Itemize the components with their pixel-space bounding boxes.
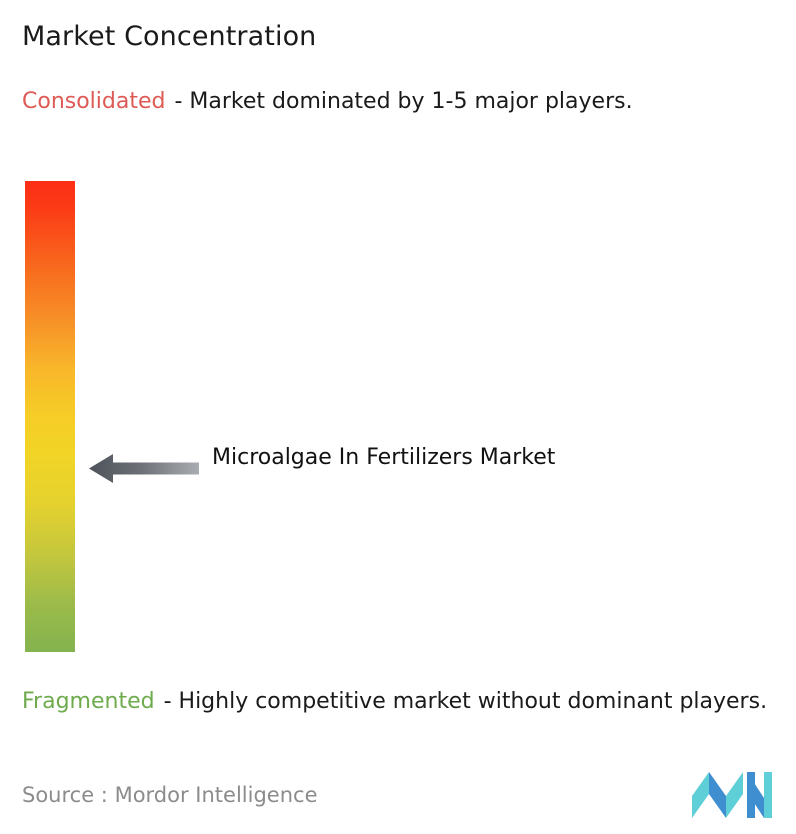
source-attribution: Source : Mordor Intelligence bbox=[22, 781, 317, 809]
keyword-consolidated: Consolidated bbox=[22, 89, 165, 114]
left-arrow-icon bbox=[89, 453, 199, 484]
caption-fragmented-description: - Highly competitive market without domi… bbox=[164, 689, 767, 714]
source-label: Source : bbox=[22, 783, 108, 807]
caption-consolidated: Consolidated- Market dominated by 1-5 ma… bbox=[22, 86, 782, 117]
mordor-intelligence-logo-icon bbox=[692, 768, 772, 818]
caption-fragmented: Fragmented- Highly competitive market wi… bbox=[22, 686, 787, 717]
keyword-fragmented: Fragmented bbox=[22, 689, 155, 714]
market-concentration-chart: Market Concentration Consolidated- Marke… bbox=[0, 0, 796, 834]
page-title: Market Concentration bbox=[22, 20, 316, 54]
source-value: Mordor Intelligence bbox=[115, 783, 318, 807]
caption-consolidated-description: - Market dominated by 1-5 major players. bbox=[174, 89, 632, 114]
concentration-gradient-bar bbox=[25, 181, 75, 652]
pointer-label: Microalgae In Fertilizers Market bbox=[212, 440, 642, 475]
